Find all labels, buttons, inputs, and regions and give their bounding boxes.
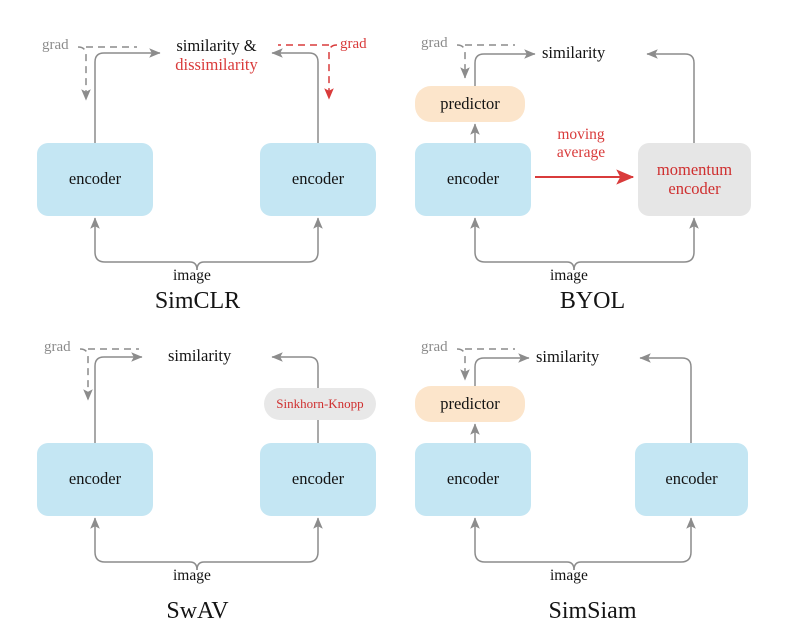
byol-objective-label: similarity <box>542 43 605 62</box>
node-label: encoder <box>69 470 121 488</box>
simclr-grad-label-right: grad <box>340 36 367 53</box>
simclr-image-label: image <box>173 267 211 285</box>
objective-similarity: similarity & <box>176 36 256 55</box>
swav-grad-label: grad <box>44 339 71 356</box>
panel-swav: encoder encoder Sinkhorn-Knopp grad simi… <box>0 318 395 636</box>
objective-dissimilarity: dissimilarity <box>159 55 274 74</box>
panel-title-simsiam: SimSiam <box>395 598 790 625</box>
node-label: encoder <box>69 170 121 188</box>
simclr-grad-label-left: grad <box>42 37 69 54</box>
swav-image-label: image <box>173 567 211 585</box>
node-label: predictor <box>440 395 500 413</box>
simclr-objective-label: similarity & dissimilarity <box>159 36 274 75</box>
simsiam-grad-label: grad <box>421 339 448 356</box>
node-label: encoder <box>665 470 717 488</box>
panel-title-byol: BYOL <box>395 288 790 315</box>
node-label: encoder <box>292 470 344 488</box>
byol-grad-label: grad <box>421 35 448 52</box>
simsiam-image-label: image <box>550 567 588 585</box>
panel-byol: predictor encoder momentum encoder grad … <box>395 0 790 318</box>
simclr-right-encoder[interactable]: encoder <box>260 143 376 216</box>
byol-encoder[interactable]: encoder <box>415 143 531 216</box>
simsiam-predictor[interactable]: predictor <box>415 386 525 422</box>
panel-title-simclr: SimCLR <box>0 288 395 315</box>
simsiam-objective-label: similarity <box>536 347 599 366</box>
swav-right-encoder[interactable]: encoder <box>260 443 376 516</box>
node-label: encoder <box>292 170 344 188</box>
node-label-line2: encoder <box>668 180 720 198</box>
byol-momentum-encoder[interactable]: momentum encoder <box>638 143 751 216</box>
node-label-line1: momentum <box>657 161 732 179</box>
panel-simsiam: predictor encoder encoder grad similarit… <box>395 318 790 636</box>
simsiam-left-encoder[interactable]: encoder <box>415 443 531 516</box>
node-label: predictor <box>440 95 500 113</box>
swav-sinkhorn-knopp[interactable]: Sinkhorn-Knopp <box>264 388 376 420</box>
byol-image-label: image <box>550 267 588 285</box>
byol-predictor[interactable]: predictor <box>415 86 525 122</box>
node-label: encoder <box>447 470 499 488</box>
swav-objective-label: similarity <box>168 346 231 365</box>
node-label: Sinkhorn-Knopp <box>276 397 363 412</box>
moving-average-line2: average <box>557 144 605 161</box>
ssl-methods-figure: encoder encoder grad grad similarity & d… <box>0 0 790 636</box>
simclr-left-encoder[interactable]: encoder <box>37 143 153 216</box>
panel-simclr: encoder encoder grad grad similarity & d… <box>0 0 395 318</box>
panel-title-swav: SwAV <box>0 598 395 625</box>
byol-moving-average-label: moving average <box>535 126 627 162</box>
swav-left-encoder[interactable]: encoder <box>37 443 153 516</box>
node-label: encoder <box>447 170 499 188</box>
simsiam-right-encoder[interactable]: encoder <box>635 443 748 516</box>
moving-average-line1: moving <box>557 126 604 143</box>
